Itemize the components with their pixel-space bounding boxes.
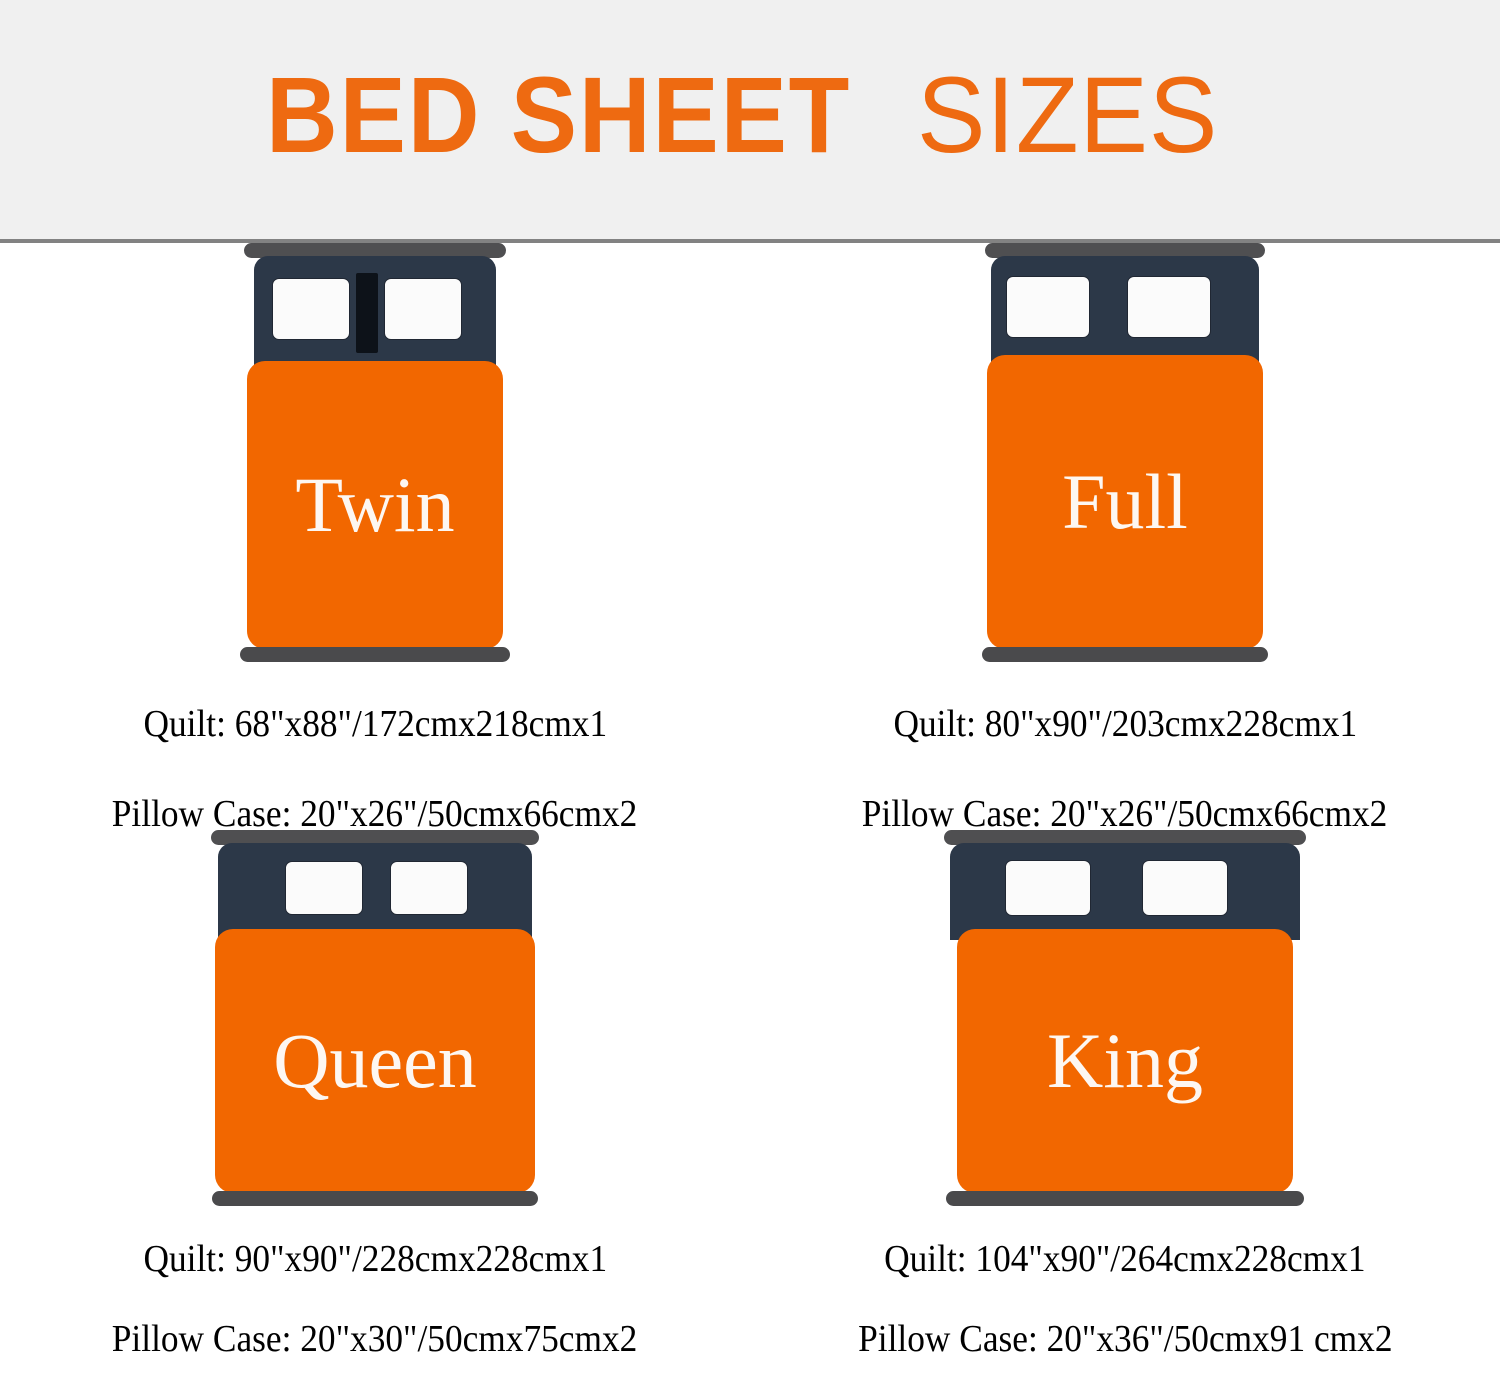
pillow-left xyxy=(272,278,350,340)
caption-quilt-queen: Quilt: 90"x90"/228cmx228cmx1 xyxy=(0,1240,750,1278)
bed-card-king: King Quilt: 104"x90"/264cmx228cmx1 Pillo… xyxy=(750,830,1500,1210)
bed-label-full: Full xyxy=(1062,463,1188,541)
blanket: King xyxy=(957,929,1293,1193)
bed-label-king: King xyxy=(1047,1022,1203,1100)
bed-card-full: Full Quilt: 80"x90"/203cmx228cmx1 Pillow… xyxy=(750,243,1500,643)
footboard-bar xyxy=(982,647,1268,662)
footboard-bar xyxy=(946,1191,1304,1206)
bed-size-grid: Twin Quilt: 68"x88"/172cmx218cmx1 Pillow… xyxy=(0,243,1500,1386)
caption-pillowcase-queen: Pillow Case: 20"x30"/50cmx75cmx2 xyxy=(0,1320,750,1358)
caption-quilt-twin: Quilt: 68"x88"/172cmx218cmx1 xyxy=(0,705,750,743)
footboard-bar xyxy=(240,647,510,662)
pillow-divider xyxy=(356,273,378,353)
pillow-left xyxy=(285,861,363,915)
bed-frame xyxy=(950,843,1300,940)
pillow-right xyxy=(1127,276,1211,338)
blanket: Full xyxy=(987,355,1263,649)
bed-card-twin: Twin Quilt: 68"x88"/172cmx218cmx1 Pillow… xyxy=(0,243,750,643)
caption-quilt-full: Quilt: 80"x90"/203cmx228cmx1 xyxy=(750,705,1500,743)
bed-illustration-full: Full xyxy=(975,243,1275,643)
page-title: BED SHEETSIZES xyxy=(266,61,1233,169)
pillow-right xyxy=(1142,860,1228,916)
pillow-right xyxy=(384,278,462,340)
pillow-left xyxy=(1005,860,1091,916)
blanket: Twin xyxy=(247,361,503,649)
pillow-left xyxy=(1006,276,1090,338)
page-header: BED SHEETSIZES xyxy=(0,0,1500,243)
bed-illustration-twin: Twin xyxy=(225,243,525,643)
bed-illustration-king: King xyxy=(935,830,1315,1210)
blanket: Queen xyxy=(215,929,535,1193)
footboard-bar xyxy=(212,1191,538,1206)
bed-frame xyxy=(218,843,532,940)
bed-label-queen: Queen xyxy=(273,1022,477,1100)
caption-pillowcase-twin: Pillow Case: 20"x26"/50cmx66cmx2 xyxy=(0,795,750,833)
bed-card-queen: Queen Quilt: 90"x90"/228cmx228cmx1 Pillo… xyxy=(0,830,750,1210)
bed-illustration-queen: Queen xyxy=(205,830,545,1210)
caption-pillowcase-king: Pillow Case: 20"x36"/50cmx91 cmx2 xyxy=(750,1320,1500,1358)
page-title-light: SIZES xyxy=(917,61,1218,169)
caption-quilt-king: Quilt: 104"x90"/264cmx228cmx1 xyxy=(750,1240,1500,1278)
caption-pillowcase-full: Pillow Case: 20"x26"/50cmx66cmx2 xyxy=(750,795,1500,833)
bed-label-twin: Twin xyxy=(295,466,454,544)
page-title-bold: BED SHEET xyxy=(266,61,851,169)
pillow-right xyxy=(390,861,468,915)
